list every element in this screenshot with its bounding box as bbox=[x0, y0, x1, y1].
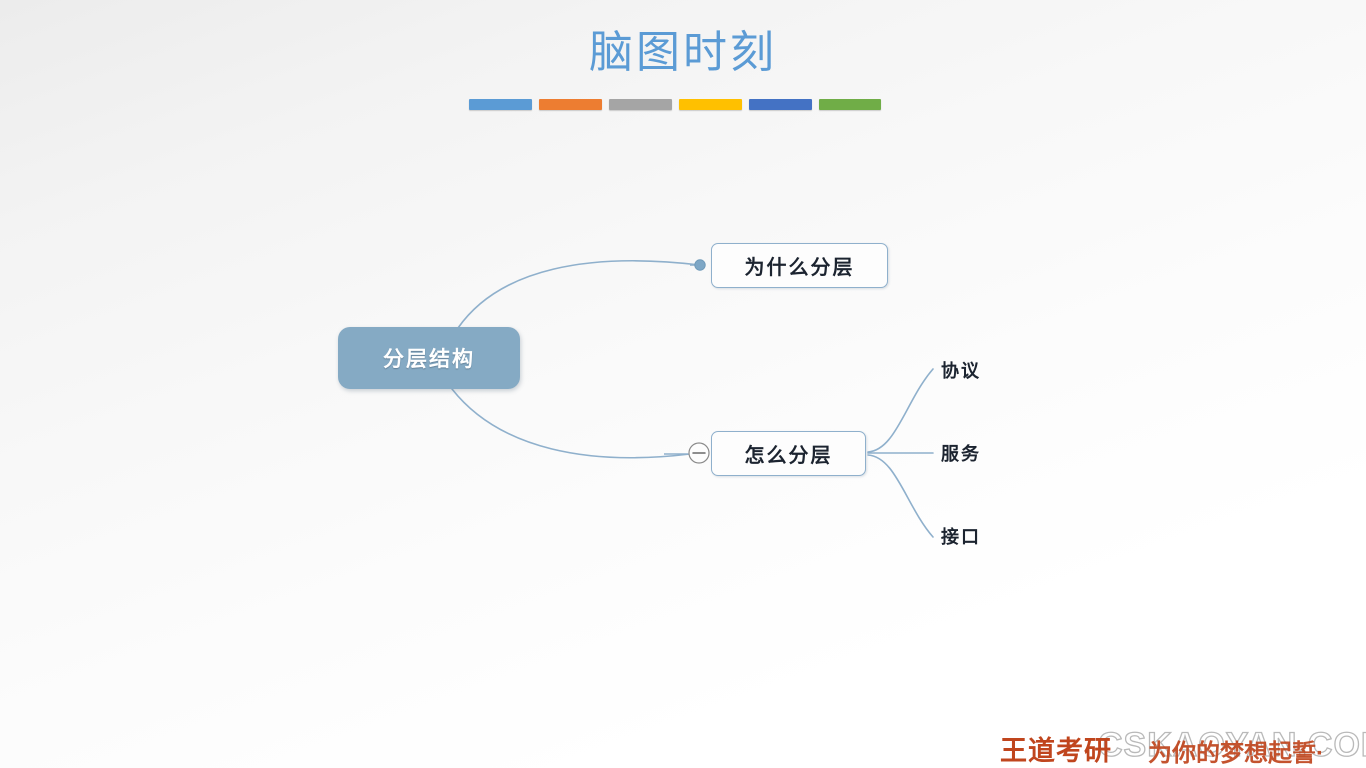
mindmap-leaf-protocol[interactable]: 协议 bbox=[941, 356, 1001, 384]
mindmap-node-why-layered-label: 为什么分层 bbox=[745, 251, 855, 280]
bullet-dot-icon bbox=[695, 260, 705, 270]
connector-how-to-protocol bbox=[868, 369, 933, 452]
mindmap-root-node[interactable]: 分层结构 bbox=[338, 327, 520, 389]
connector-root-to-how bbox=[452, 389, 690, 458]
mindmap: 分层结构 为什么分层 怎么分层 协议 服务 接口 bbox=[0, 0, 1366, 768]
mindmap-node-how-layered[interactable]: 怎么分层 bbox=[711, 431, 866, 476]
mindmap-node-how-layered-label: 怎么分层 bbox=[745, 439, 833, 468]
mindmap-leaf-protocol-label: 协议 bbox=[941, 357, 981, 383]
mindmap-connectors bbox=[0, 0, 1366, 768]
connector-root-to-why bbox=[458, 261, 700, 328]
slide-canvas: 脑图时刻 bbox=[0, 0, 1366, 768]
connector-how-to-interface bbox=[868, 455, 933, 537]
mindmap-leaf-interface[interactable]: 接口 bbox=[941, 522, 1001, 550]
mindmap-leaf-service-label: 服务 bbox=[941, 440, 981, 466]
mindmap-node-why-layered[interactable]: 为什么分层 bbox=[711, 243, 888, 288]
mindmap-leaf-service[interactable]: 服务 bbox=[941, 439, 1001, 467]
mindmap-leaf-interface-label: 接口 bbox=[941, 523, 981, 549]
mindmap-root-label: 分层结构 bbox=[383, 343, 475, 373]
